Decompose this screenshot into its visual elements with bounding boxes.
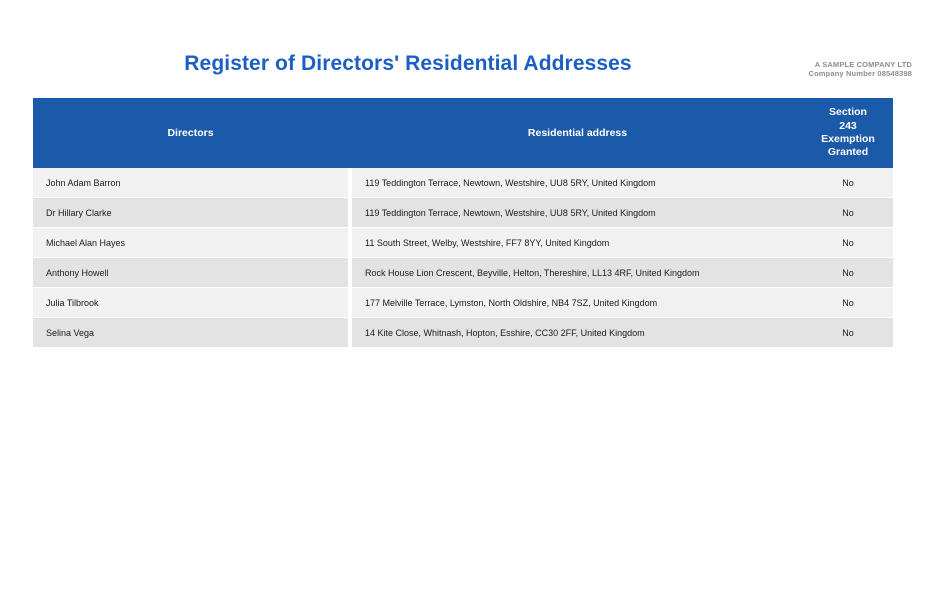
table-row: Dr Hillary Clarke119 Teddington Terrace,… (33, 198, 893, 228)
company-name: A SAMPLE COMPANY LTD (752, 60, 912, 69)
cell-residential-address: Rock House Lion Crescent, Beyville, Helt… (352, 258, 803, 288)
cell-residential-address: 119 Teddington Terrace, Newtown, Westshi… (352, 168, 803, 198)
table-header: Directors Residential address Section 24… (33, 98, 893, 168)
cell-exemption-granted: No (803, 198, 893, 228)
cell-residential-address: 177 Melville Terrace, Lymston, North Old… (352, 288, 803, 318)
table-header-row: Directors Residential address Section 24… (33, 98, 893, 168)
cell-residential-address: 11 South Street, Welby, Westshire, FF7 8… (352, 228, 803, 258)
column-header-exemption-line-1: Section (829, 106, 867, 118)
register-table: Directors Residential address Section 24… (33, 98, 893, 347)
column-header-exemption-line-3: Exemption (821, 133, 875, 145)
cell-exemption-granted: No (803, 258, 893, 288)
column-header-section-243-exemption-granted: Section 243 Exemption Granted (803, 98, 893, 168)
company-info: A SAMPLE COMPANY LTD Company Number 0854… (752, 60, 912, 79)
cell-director-name: Selina Vega (33, 318, 348, 347)
column-header-directors: Directors (33, 98, 348, 168)
cell-director-name: Michael Alan Hayes (33, 228, 348, 258)
cell-director-name: Julia Tilbrook (33, 288, 348, 318)
cell-director-name: Dr Hillary Clarke (33, 198, 348, 228)
document-header: Register of Directors' Residential Addre… (0, 40, 940, 88)
cell-exemption-granted: No (803, 168, 893, 198)
table-body: John Adam Barron119 Teddington Terrace, … (33, 168, 893, 347)
table-row: Julia Tilbrook177 Melville Terrace, Lyms… (33, 288, 893, 318)
table-row: Selina Vega14 Kite Close, Whitnash, Hopt… (33, 318, 893, 347)
column-header-exemption-line-2: 243 (839, 120, 857, 132)
cell-residential-address: 119 Teddington Terrace, Newtown, Westshi… (352, 198, 803, 228)
cell-exemption-granted: No (803, 228, 893, 258)
cell-director-name: John Adam Barron (33, 168, 348, 198)
document-page: Register of Directors' Residential Addre… (0, 0, 940, 613)
column-header-exemption-line-4: Granted (828, 146, 868, 158)
page-title: Register of Directors' Residential Addre… (33, 52, 783, 76)
table-row: Anthony HowellRock House Lion Crescent, … (33, 258, 893, 288)
cell-director-name: Anthony Howell (33, 258, 348, 288)
table-row: Michael Alan Hayes11 South Street, Welby… (33, 228, 893, 258)
table-row: John Adam Barron119 Teddington Terrace, … (33, 168, 893, 198)
register-table-container: Directors Residential address Section 24… (33, 98, 893, 347)
company-number: Company Number 08548398 (752, 69, 912, 78)
cell-exemption-granted: No (803, 288, 893, 318)
column-header-residential-address: Residential address (352, 98, 803, 168)
cell-residential-address: 14 Kite Close, Whitnash, Hopton, Esshire… (352, 318, 803, 347)
cell-exemption-granted: No (803, 318, 893, 347)
